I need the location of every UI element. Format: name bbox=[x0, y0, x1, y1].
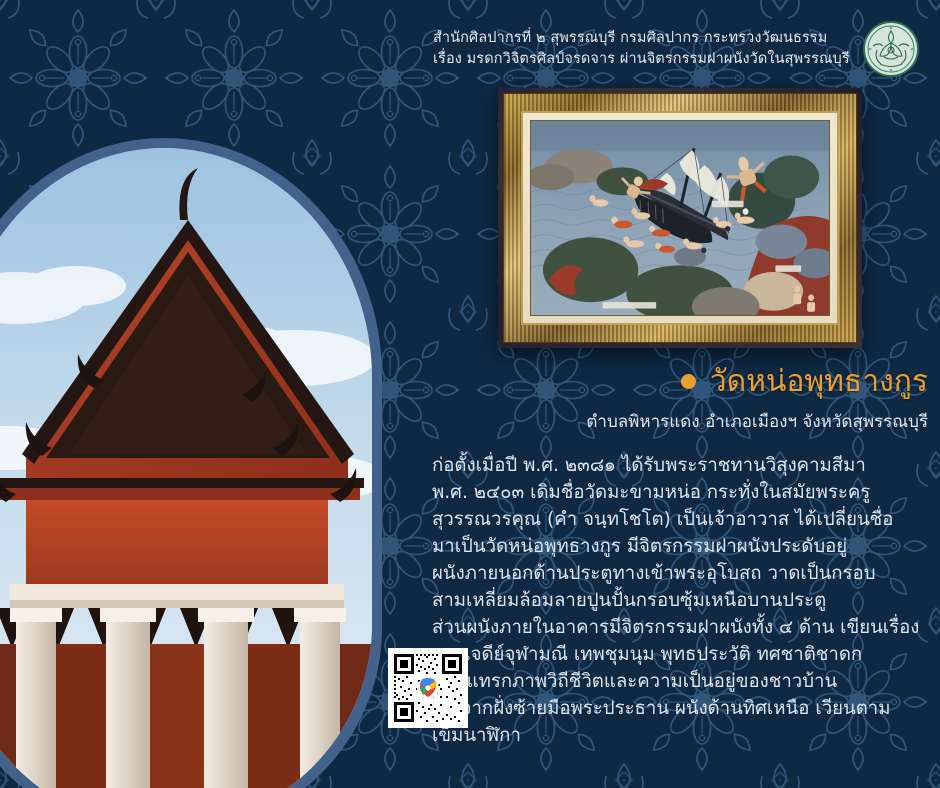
header-line-organization: สำนักศิลปากรที่ ๒ สุพรรณบุรี กรมศิลปากร … bbox=[433, 28, 853, 49]
body-line: สุวรรณวรคุณ (คำ จนฺทโชโต) เป็นเจ้าอาวาส … bbox=[432, 506, 932, 533]
description-paragraph: ก่อตั้งเมื่อปี พ.ศ. ๒๓๘๑ ได้รับพระราชทาน… bbox=[432, 452, 932, 750]
location-qr-code[interactable] bbox=[388, 648, 468, 728]
page-title: วัดหน่อพุทธางกูร bbox=[710, 365, 928, 398]
poster-canvas: สำนักศิลปากรที่ ๒ สุพรรณบุรี กรมศิลปากร … bbox=[0, 0, 940, 788]
gilt-frame-moulding bbox=[503, 93, 857, 343]
framed-artwork bbox=[498, 88, 862, 348]
header-text-block: สำนักศิลปากรที่ ๒ สุพรรณบุรี กรมศิลปากร … bbox=[433, 28, 853, 70]
header-line-topic: เรื่อง มรดกวิจิตรศิลป์จรดจาร ผ่านจิตรกรร… bbox=[433, 49, 853, 70]
location-subtitle: ตำบลพิหารแดง อำเภอเมืองฯ จังหวัดสุพรรณบุ… bbox=[470, 408, 928, 435]
body-line: ก่อตั้งเมื่อปี พ.ศ. ๒๓๘๑ ได้รับพระราชทาน… bbox=[432, 452, 932, 479]
body-line: สอดแทรกภาพวิถีชีวิตและความเป็นอยู่ของชาว… bbox=[432, 668, 932, 695]
bullet-point-icon bbox=[681, 374, 696, 389]
body-line: พระเจดีย์จุฬามณี เทพชุมนุม พุทธประวัติ ท… bbox=[432, 641, 932, 668]
body-line: พ.ศ. ๒๔๐๓ เดิมชื่อวัดมะขามหน่อ กระทั่งใน… bbox=[432, 479, 932, 506]
body-line: เริ่มจากฝั่งซ้ายมือพระประธาน ผนังด้านทิศ… bbox=[432, 695, 932, 722]
mural-shipwreck-illustration bbox=[531, 121, 829, 315]
body-line: ส่วนผนังภายในอาคารมีจิตรกรรมฝาผนังทั้ง ๔… bbox=[432, 614, 932, 641]
body-line: ผนังภายนอกด้านประตูทางเข้าพระอุโบสถ วาดเ… bbox=[432, 560, 932, 587]
temple-photo-frame bbox=[0, 138, 382, 788]
body-line: เข็มนาฬิกา bbox=[432, 722, 932, 749]
wat-title-row: วัดหน่อพุทธางกูร bbox=[470, 365, 928, 398]
fine-arts-department-seal-icon bbox=[862, 20, 920, 78]
body-line: มาเป็นวัดหน่อพุทธางกูร มีจิตรกรรมฝาผนังป… bbox=[432, 533, 932, 560]
frame-mat bbox=[521, 111, 839, 325]
temple-photo bbox=[0, 148, 372, 788]
qr-code-graphic[interactable] bbox=[390, 650, 466, 726]
temple-photo-illustration bbox=[0, 148, 372, 788]
body-line: สามเหลี่ยมล้อมลายปูนปั้นกรอบซุ้มเหนือบาน… bbox=[432, 587, 932, 614]
mural-painting bbox=[530, 120, 830, 316]
